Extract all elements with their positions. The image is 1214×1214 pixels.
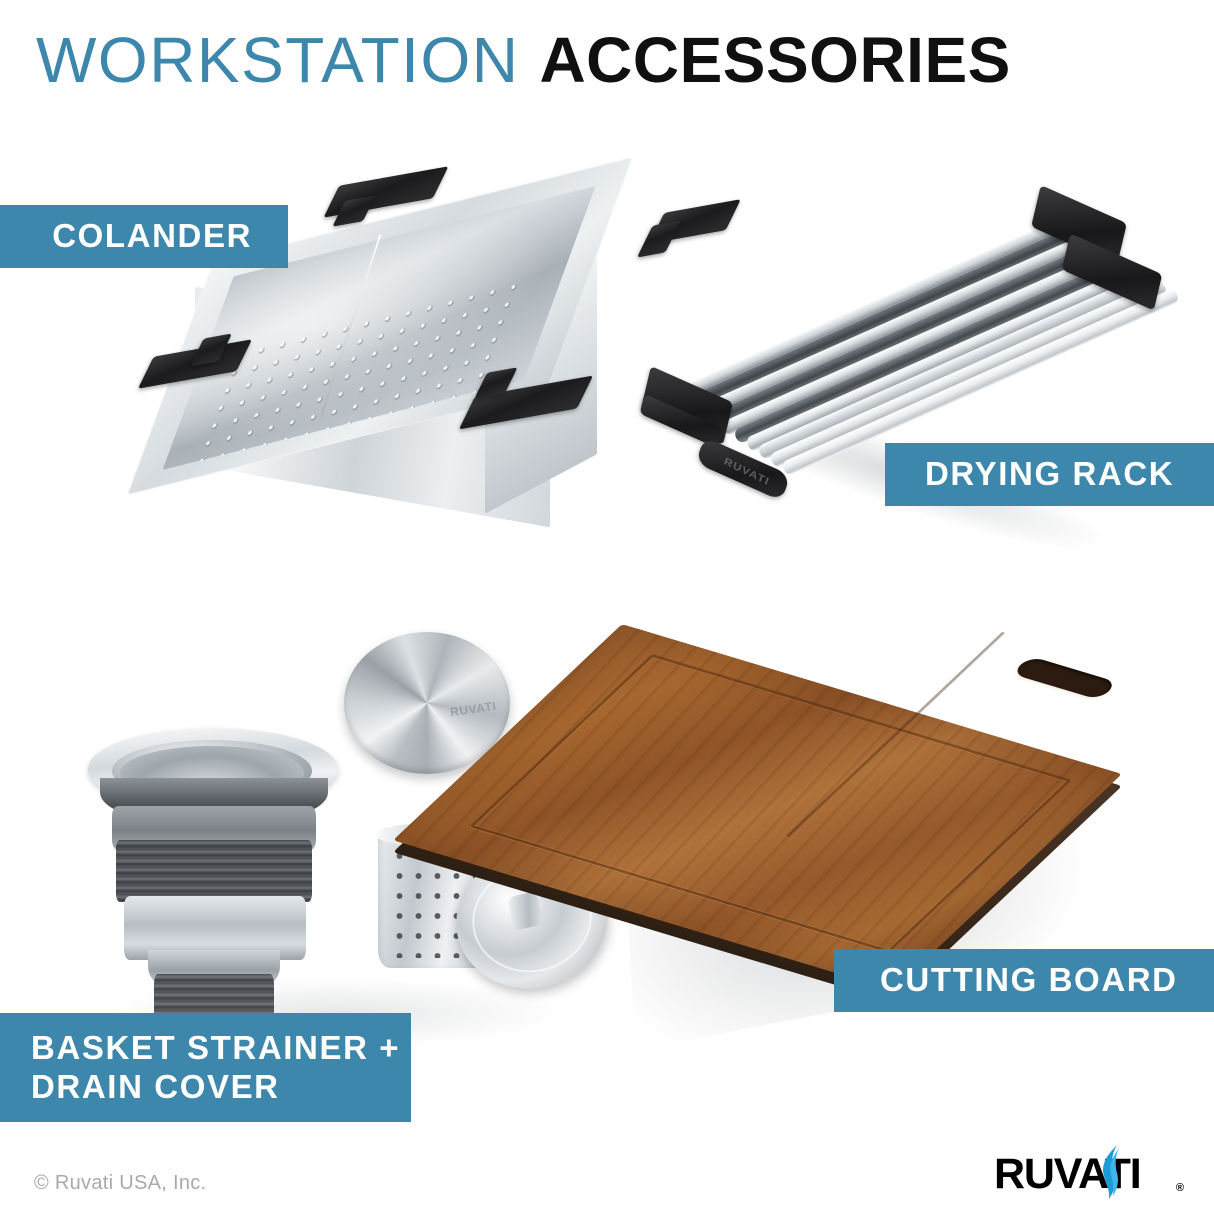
product-label-cutting-board: CUTTING BOARD bbox=[834, 949, 1214, 1012]
marketing-image-canvas: WORKSTATION ACCESSORIES bbox=[0, 0, 1214, 1214]
strainer-upper-threads bbox=[116, 840, 312, 902]
product-label-basket-strainer-line1: BASKET STRAINER + bbox=[31, 1029, 400, 1067]
product-label-drying-rack-text: DRYING RACK bbox=[925, 455, 1174, 494]
ruvati-logo: RUVATI ® bbox=[994, 1148, 1186, 1198]
copyright-notice: © Ruvati USA, Inc. bbox=[34, 1172, 206, 1195]
product-label-colander-text: COLANDER bbox=[52, 217, 252, 256]
product-label-basket-strainer: BASKET STRAINER + DRAIN COVER bbox=[0, 1013, 411, 1122]
page-title-part-two: ACCESSORIES bbox=[539, 28, 1010, 92]
page-title-part-one: WORKSTATION bbox=[36, 28, 519, 92]
ruvati-water-swoosh-icon bbox=[1095, 1144, 1129, 1200]
ruvati-registered-trademark-icon: ® bbox=[1176, 1182, 1184, 1194]
product-label-cutting-board-text: CUTTING BOARD bbox=[880, 961, 1178, 1000]
product-label-colander: COLANDER bbox=[0, 205, 288, 268]
product-label-basket-strainer-line2: DRAIN COVER bbox=[31, 1068, 280, 1106]
page-title: WORKSTATION ACCESSORIES bbox=[36, 28, 1011, 92]
cutting-board-handle-slot bbox=[1011, 656, 1118, 700]
product-label-drying-rack: DRYING RACK bbox=[885, 443, 1214, 506]
